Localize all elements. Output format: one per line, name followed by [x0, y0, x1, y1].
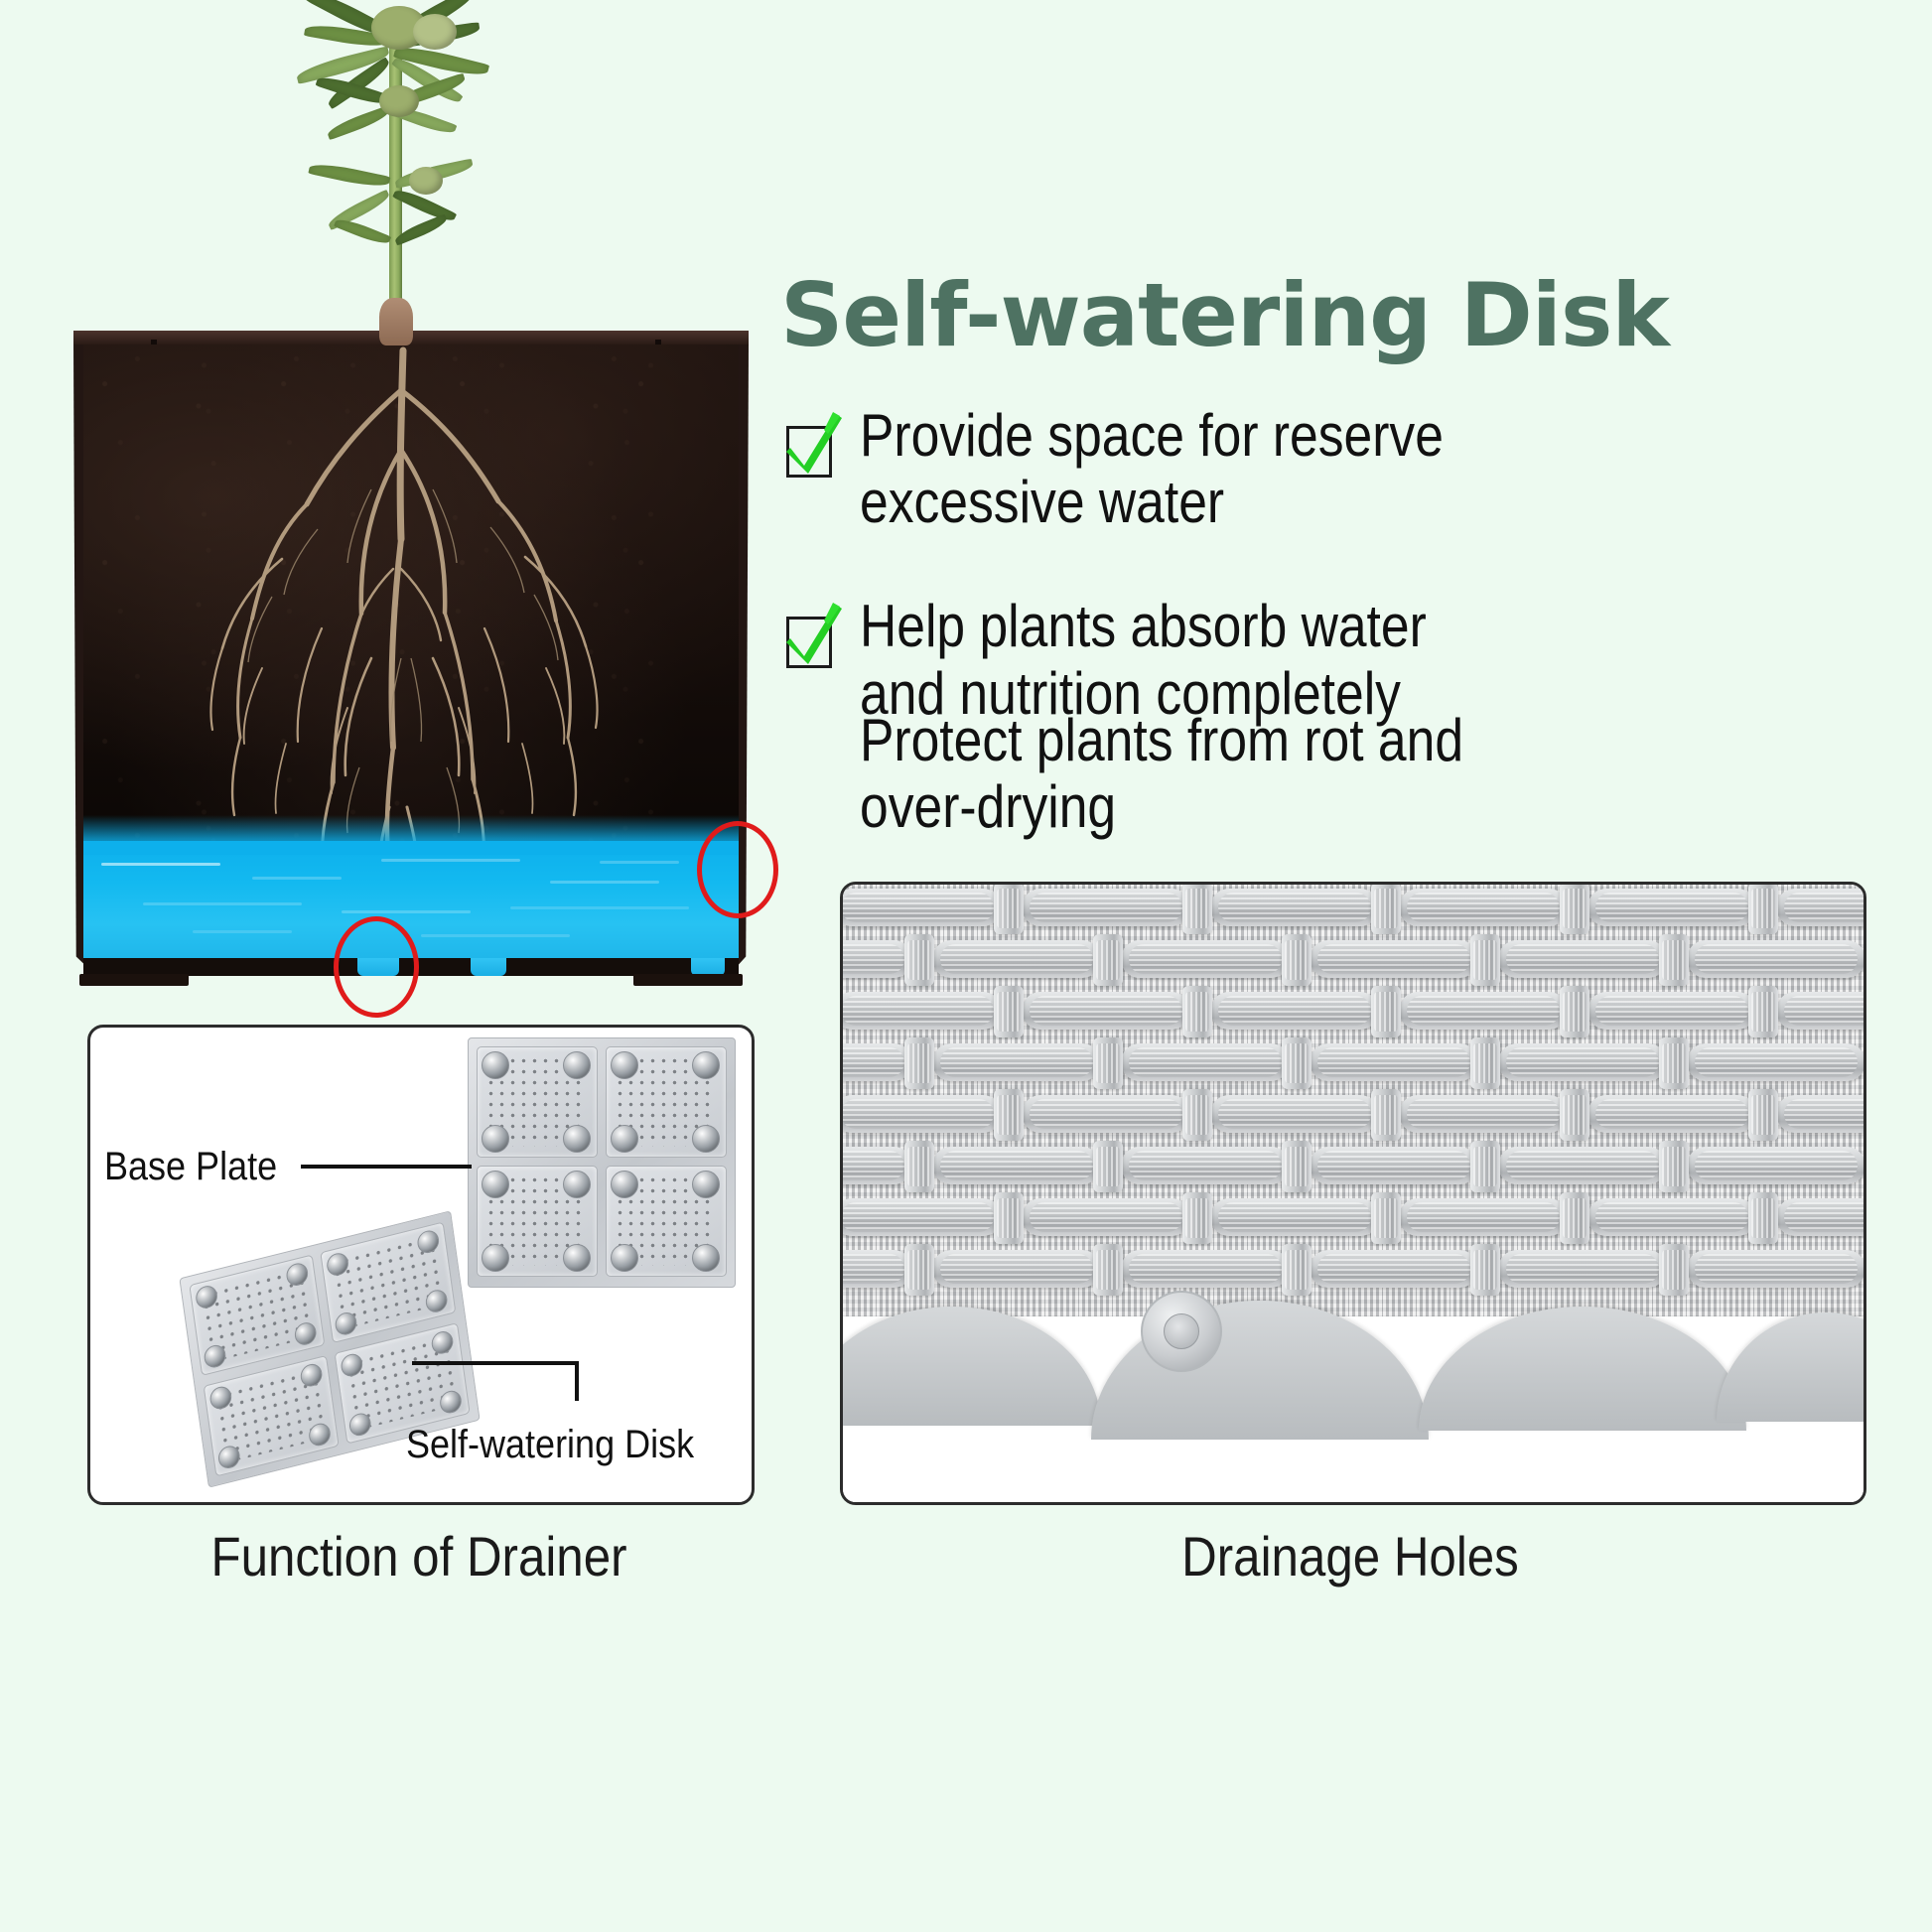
drainage-hole-plug-icon — [1141, 1291, 1222, 1372]
disk-quadrant — [320, 1221, 456, 1343]
callout-disk-leader-vertical — [575, 1361, 579, 1401]
check-mark-icon — [778, 599, 854, 674]
infographic-canvas: Self-watering Disk Provide space for res… — [0, 0, 1932, 1932]
check-mark-icon — [778, 408, 854, 483]
screw-icon — [482, 1171, 509, 1198]
screw-icon — [482, 1244, 509, 1272]
feature-item: Provide space for reserve excessive wate… — [780, 402, 1922, 535]
disk-quadrant — [204, 1355, 340, 1477]
annotation-ellipse-bottom-notch — [334, 916, 419, 1018]
base-arch — [840, 1307, 1101, 1426]
feature-text: Provide space for reserve excessive wate… — [860, 402, 1773, 535]
plant-stem-base — [379, 298, 413, 345]
base-arch — [1419, 1307, 1746, 1431]
plate-quadrant — [477, 1166, 598, 1277]
plant-stem — [389, 40, 402, 338]
panel-function-of-drainer: Base Plate Self-watering Disk — [87, 1025, 755, 1505]
plate-quadrant — [477, 1046, 598, 1158]
extra-feature-text: Protect plants from rot and over-drying — [860, 707, 1932, 840]
screw-icon — [692, 1125, 720, 1153]
disk-quadrant — [189, 1254, 325, 1376]
screw-icon — [692, 1244, 720, 1272]
soil-texture — [83, 345, 739, 851]
base-arch — [1717, 1312, 1866, 1422]
planter-foot-left — [79, 974, 189, 986]
checkbox-checked-icon — [780, 414, 842, 476]
drainage-notch-bottom-2 — [471, 958, 506, 976]
screw-icon — [611, 1051, 638, 1079]
planter-foot-right — [633, 974, 743, 986]
plant-illustration — [268, 0, 566, 347]
planter-base-underside — [843, 1316, 1863, 1502]
screw-icon — [563, 1125, 591, 1153]
caption-drainage-holes: Drainage Holes — [901, 1524, 1800, 1588]
plate-quadrant — [606, 1046, 727, 1158]
callout-base-plate-leader — [301, 1165, 472, 1169]
screw-icon — [692, 1051, 720, 1079]
screw-icon — [611, 1244, 638, 1272]
soil-water-cross-section-photo — [73, 331, 749, 976]
callout-base-plate-label: Base Plate — [104, 1145, 277, 1189]
screw-icon — [611, 1125, 638, 1153]
base-plate-render-top — [468, 1037, 736, 1288]
callout-disk-leader-horizontal — [412, 1361, 579, 1365]
soil-layer — [83, 345, 739, 851]
plate-quadrant — [606, 1166, 727, 1277]
screw-icon — [482, 1051, 509, 1079]
annotation-ellipse-side-notch — [697, 821, 778, 918]
caption-function-of-drainer: Function of Drainer — [102, 1524, 735, 1588]
screw-icon — [563, 1244, 591, 1272]
screw-icon — [482, 1125, 509, 1153]
rattan-weave-texture — [843, 885, 1863, 1335]
page-title: Self-watering Disk — [780, 270, 1932, 361]
screw-icon — [611, 1171, 638, 1198]
screw-icon — [563, 1051, 591, 1079]
screw-icon — [692, 1171, 720, 1198]
panel-drainage-holes — [840, 882, 1866, 1505]
screw-icon — [563, 1171, 591, 1198]
callout-self-watering-disk-label: Self-watering Disk — [406, 1423, 694, 1467]
checkbox-checked-icon — [780, 605, 842, 666]
feature-list: Provide space for reserve excessive wate… — [780, 402, 1922, 840]
